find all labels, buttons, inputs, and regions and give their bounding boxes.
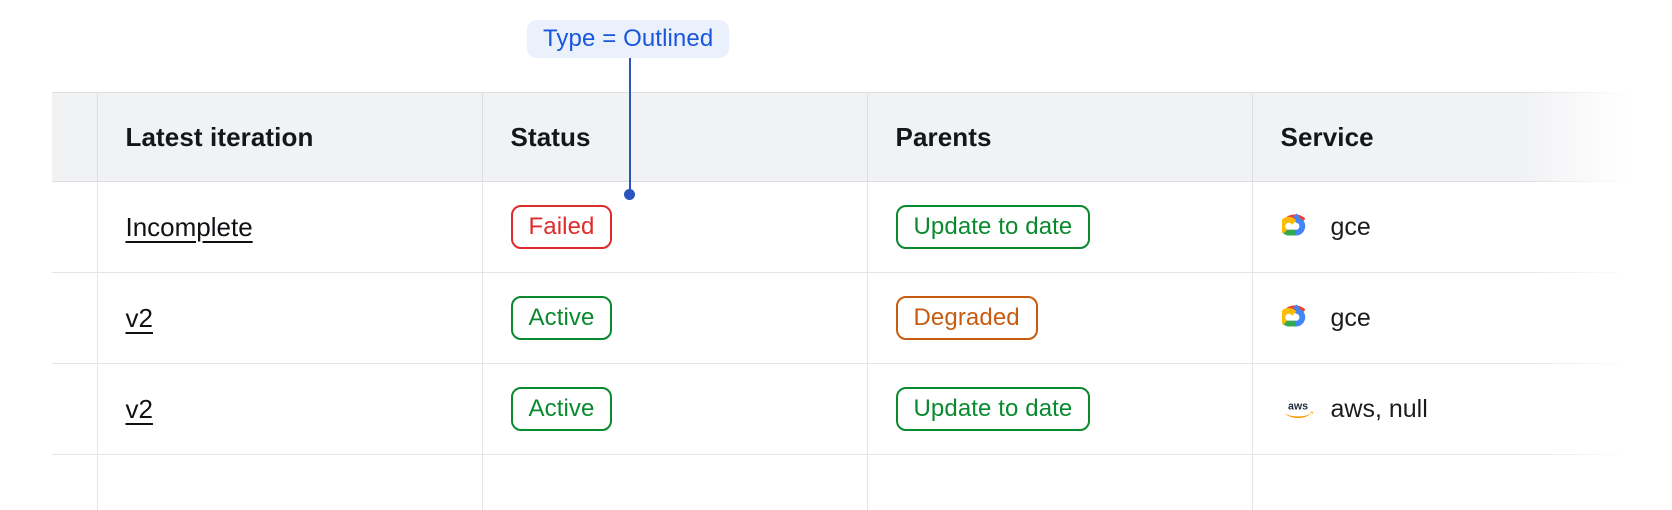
parents-badge: Update to date: [896, 387, 1091, 431]
annotation-label: Type = Outlined: [543, 25, 713, 53]
table-row[interactable]: v2 Active Update to date: [52, 364, 1672, 455]
column-header-service[interactable]: Service: [1252, 93, 1672, 182]
service-label: gce: [1331, 213, 1371, 242]
table-header: Latest iteration Status Parents Service: [52, 93, 1672, 182]
iteration-link[interactable]: v2: [126, 303, 153, 333]
aws-icon: aws: [1281, 392, 1315, 426]
service-cell: aws aws, null: [1281, 392, 1672, 426]
service-label: aws, null: [1331, 395, 1428, 424]
row-gutter-cell: [52, 455, 97, 510]
service-cell: gce: [1281, 210, 1672, 244]
google-cloud-icon: [1281, 301, 1315, 335]
status-badge-label: Failed: [529, 215, 595, 239]
row-gutter-cell: [52, 273, 97, 364]
status-badge-label: Active: [529, 397, 595, 421]
service-cell: gce: [1281, 301, 1672, 335]
cell-parents: Update to date: [867, 364, 1252, 455]
parents-badge: Update to date: [896, 205, 1091, 249]
cell-status: Failed: [482, 182, 867, 273]
data-table-container: Latest iteration Status Parents Service …: [52, 92, 1672, 510]
cell-service: [1252, 455, 1672, 510]
column-header-gutter: [52, 93, 97, 182]
status-badge: Active: [511, 387, 613, 431]
annotation-pill: Type = Outlined: [527, 20, 729, 58]
column-header-status[interactable]: Status: [482, 93, 867, 182]
column-header-latest-iteration[interactable]: Latest iteration: [97, 93, 482, 182]
status-table: Latest iteration Status Parents Service …: [52, 92, 1672, 510]
cell-latest-iteration: v2: [97, 273, 482, 364]
iteration-link[interactable]: v2: [126, 394, 153, 424]
cell-service: gce: [1252, 273, 1672, 364]
table-header-row: Latest iteration Status Parents Service: [52, 93, 1672, 182]
parents-badge: Degraded: [896, 296, 1038, 340]
table-row[interactable]: v2 Active Degraded: [52, 273, 1672, 364]
cell-parents: [867, 455, 1252, 510]
left-edge-fade: [0, 88, 54, 510]
status-badge: Active: [511, 296, 613, 340]
service-label: gce: [1331, 304, 1371, 333]
cell-status: [482, 455, 867, 510]
svg-text:aws: aws: [1287, 401, 1307, 413]
row-gutter-cell: [52, 182, 97, 273]
table-row-partial[interactable]: [52, 455, 1672, 510]
parents-badge-label: Update to date: [914, 215, 1073, 239]
cell-service: aws aws, null: [1252, 364, 1672, 455]
cell-status: Active: [482, 364, 867, 455]
column-header-parents[interactable]: Parents: [867, 93, 1252, 182]
cell-latest-iteration: [97, 455, 482, 510]
cell-status: Active: [482, 273, 867, 364]
google-cloud-icon: [1281, 210, 1315, 244]
cell-service: gce: [1252, 182, 1672, 273]
table-row[interactable]: Incomplete Failed Update to date: [52, 182, 1672, 273]
iteration-link[interactable]: Incomplete: [126, 212, 253, 242]
parents-badge-label: Degraded: [914, 306, 1020, 330]
cell-latest-iteration: v2: [97, 364, 482, 455]
cell-parents: Update to date: [867, 182, 1252, 273]
table-body: Incomplete Failed Update to date: [52, 182, 1672, 510]
row-gutter-cell: [52, 364, 97, 455]
status-badge: Failed: [511, 205, 613, 249]
parents-badge-label: Update to date: [914, 397, 1073, 421]
status-badge-label: Active: [529, 306, 595, 330]
cell-latest-iteration: Incomplete: [97, 182, 482, 273]
cell-parents: Degraded: [867, 273, 1252, 364]
